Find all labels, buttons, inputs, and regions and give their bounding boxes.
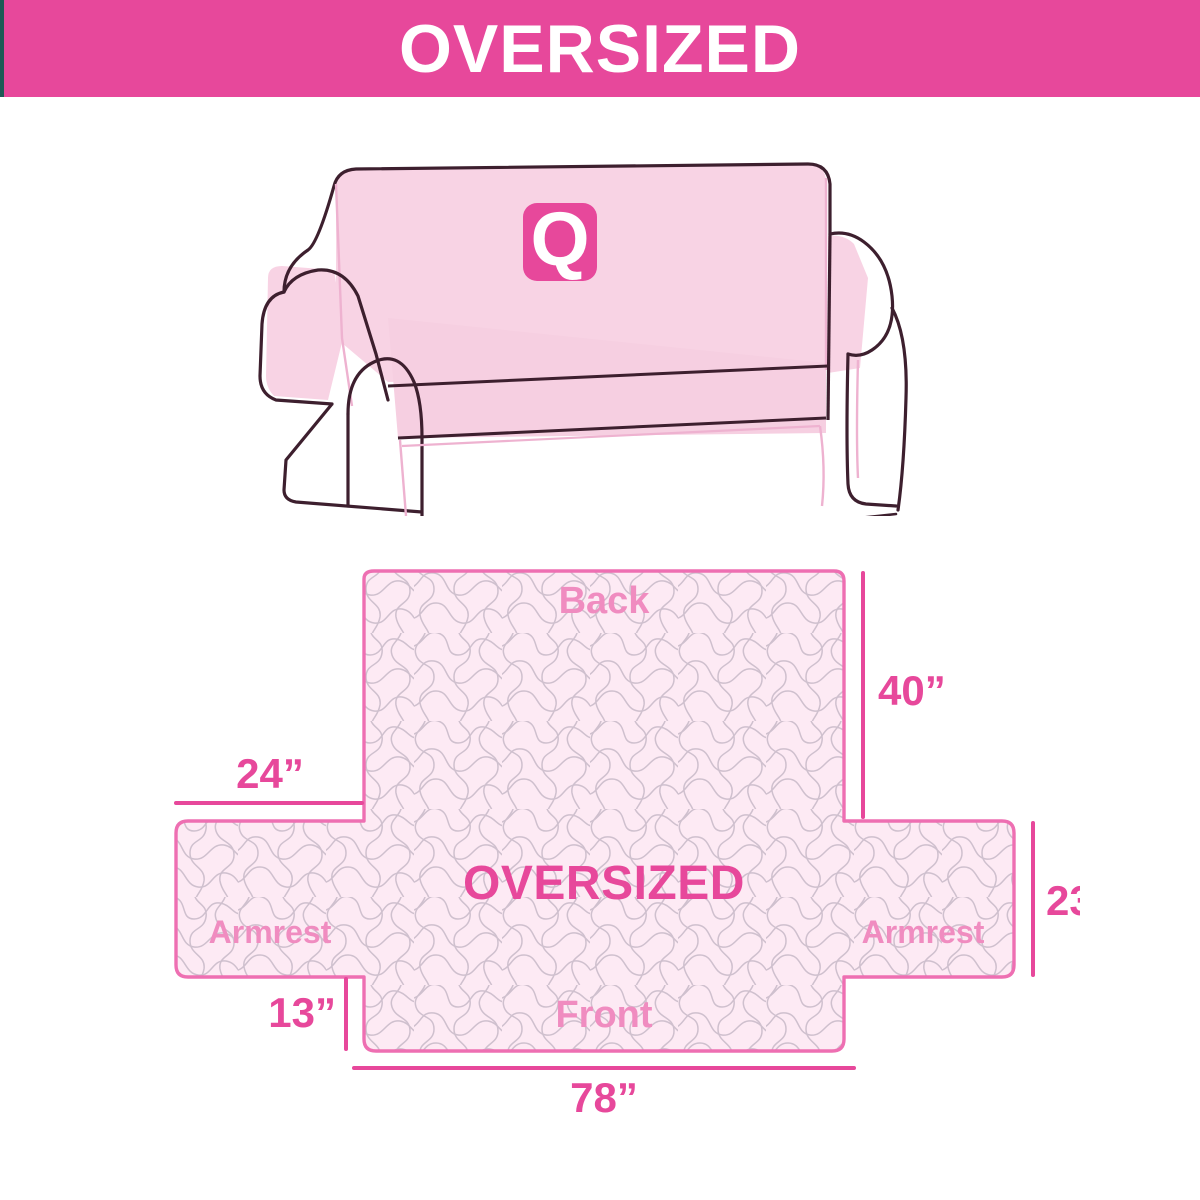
q-logo-letter: Q — [530, 197, 589, 282]
product-dimension-infographic: OVERSIZED — [0, 0, 1200, 1200]
panel-label-back: Back — [559, 580, 651, 622]
dimension-armrest-height: 23” — [1033, 823, 1080, 975]
sofa-illustration: Q — [248, 138, 972, 516]
panel-label-front: Front — [555, 994, 652, 1036]
panel-label-armrest-left: Armrest — [209, 914, 332, 950]
sofa-right-skirt — [892, 308, 906, 510]
cover-panel-outline — [176, 571, 1014, 1051]
sofa-front-apron-inner — [416, 514, 896, 516]
cover-layout-diagram: Back Front Armrest Armrest OVERSIZED 40”… — [150, 545, 1080, 1125]
svg-text:78”: 78” — [570, 1074, 638, 1121]
svg-text:24”: 24” — [236, 750, 304, 797]
cover-cross-shape — [176, 571, 1014, 1051]
brand-logo-badge: Q — [523, 197, 597, 282]
svg-text:40”: 40” — [878, 667, 946, 714]
sofa-right-arm-front — [847, 354, 896, 506]
svg-text:23”: 23” — [1046, 877, 1080, 924]
sofa-seat-left-crease — [400, 440, 406, 516]
header-banner: OVERSIZED — [0, 0, 1200, 97]
header-edge-strip — [0, 0, 4, 97]
sofa-left-arm-fill — [266, 266, 344, 400]
dimension-armrest-width: 24” — [176, 750, 362, 803]
diagram-center-label: OVERSIZED — [463, 857, 745, 910]
panel-label-armrest-right: Armrest — [862, 914, 985, 950]
dimension-front-depth: 13” — [268, 979, 346, 1049]
dimension-back-depth: 40” — [863, 573, 946, 817]
svg-text:13”: 13” — [268, 989, 336, 1036]
sofa-seat-right-crease — [820, 426, 824, 506]
dimension-total-width: 78” — [354, 1068, 854, 1121]
sofa-right-arm-crease — [857, 360, 858, 478]
page-title: OVERSIZED — [399, 15, 801, 83]
sofa-right-arm-inner — [828, 234, 830, 420]
